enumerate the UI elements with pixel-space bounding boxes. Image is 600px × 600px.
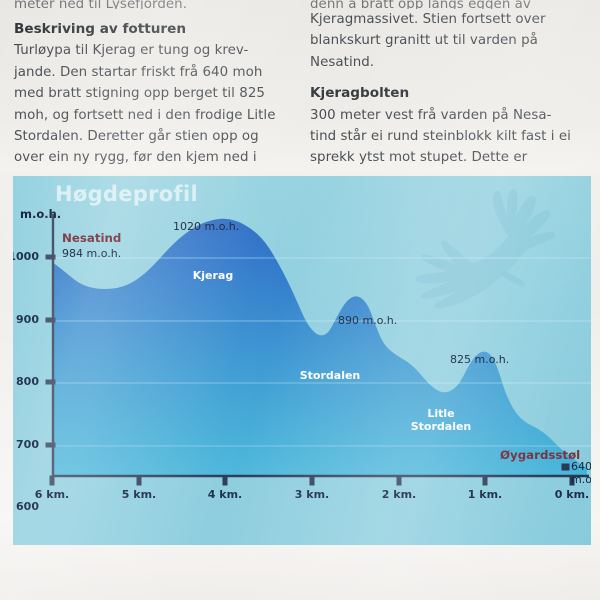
- eagle-silhouette-icon: [415, 189, 555, 308]
- y-tick-label-900: 900: [13, 313, 39, 326]
- text-column-left: meter ned til Lysefjorden. Beskriving av…: [14, 0, 294, 169]
- right-line-2: sprekk ytst mot stupet. Dette er: [310, 147, 590, 168]
- left-line-1: jande. Den startar friskt frå 640 moh: [14, 62, 294, 83]
- x-tick-label-6km: 6 km.: [26, 488, 78, 501]
- annotation-stordalen-name: Stordalen: [295, 369, 365, 382]
- right-line-1: tind står ei rund steinblokk kilt fast i…: [310, 126, 590, 147]
- article-text-block: meter ned til Lysefjorden. Beskriving av…: [0, 0, 600, 172]
- left-partial-line: meter ned til Lysefjorden.: [14, 0, 294, 9]
- right-column-heading: Kjeragbolten: [310, 83, 590, 104]
- x-tick-label-3km: 3 km.: [286, 488, 338, 501]
- y-tick-label-600: 600: [13, 500, 39, 513]
- x-tick-label-1km: 1 km.: [459, 488, 511, 501]
- right-line-0: 300 meter vest frå varden på Nesa-: [310, 105, 590, 126]
- left-line-4: Stordalen. Deretter går stien opp og: [14, 126, 294, 147]
- annotation-kjerag-peak: 1020 m.o.h.: [173, 220, 239, 233]
- annotation-litle-stordalen-peak: 825 m.o.h.: [450, 353, 509, 366]
- annotation-litle-stordalen-name: Litle Stordalen: [408, 407, 474, 433]
- annotation-stordalen-peak: 890 m.o.h.: [338, 314, 397, 327]
- left-column-heading: Beskriving av fotturen: [14, 19, 294, 40]
- x-tick-label-4km: 4 km.: [199, 488, 251, 501]
- left-line-3: moh, og fortsett ned i den frodige Litle: [14, 105, 294, 126]
- text-column-right: denn å bratt opp langs eggen av Kjeragma…: [310, 0, 590, 169]
- elevation-profile-panel: Høgdeprofil m.o.h. 1000 900 800 700 600 …: [13, 176, 591, 545]
- right-pre-line-0: Kjeragmassivet. Stien fortsett over: [310, 9, 590, 30]
- right-pre-line-1: blankskurt granitt ut til varden på: [310, 30, 590, 51]
- annotation-kjerag-name: Kjerag: [183, 269, 243, 282]
- chart-title: Høgdeprofil: [55, 182, 198, 206]
- y-tick-label-700: 700: [13, 438, 39, 451]
- left-line-5: over ein ny rygg, før den kjem ned i: [14, 147, 294, 168]
- x-tick-label-0km: 0 km.: [546, 488, 591, 501]
- right-partial-line: denn å bratt opp langs eggen av: [310, 0, 590, 9]
- right-pre-line-2: Nesatind.: [310, 52, 590, 73]
- left-line-0: Turløypa til Kjerag er tung og krev-: [14, 40, 294, 61]
- annotation-nesatind-name: Nesatind: [62, 231, 121, 245]
- x-tick-label-5km: 5 km.: [113, 488, 165, 501]
- y-axis-title: m.o.h.: [20, 207, 61, 221]
- annotation-oygardsstol-height: 640 m.o.h.: [571, 460, 591, 486]
- annotation-oygardsstol-name: Øygardsstøl: [500, 448, 580, 462]
- y-tick-label-1000: 1000: [13, 250, 39, 263]
- annotation-nesatind-height: 984 m.o.h.: [62, 247, 121, 260]
- left-line-2: med bratt stigning opp berget til 825: [14, 83, 294, 104]
- y-tick-label-800: 800: [13, 375, 39, 388]
- x-tick-label-2km: 2 km.: [373, 488, 425, 501]
